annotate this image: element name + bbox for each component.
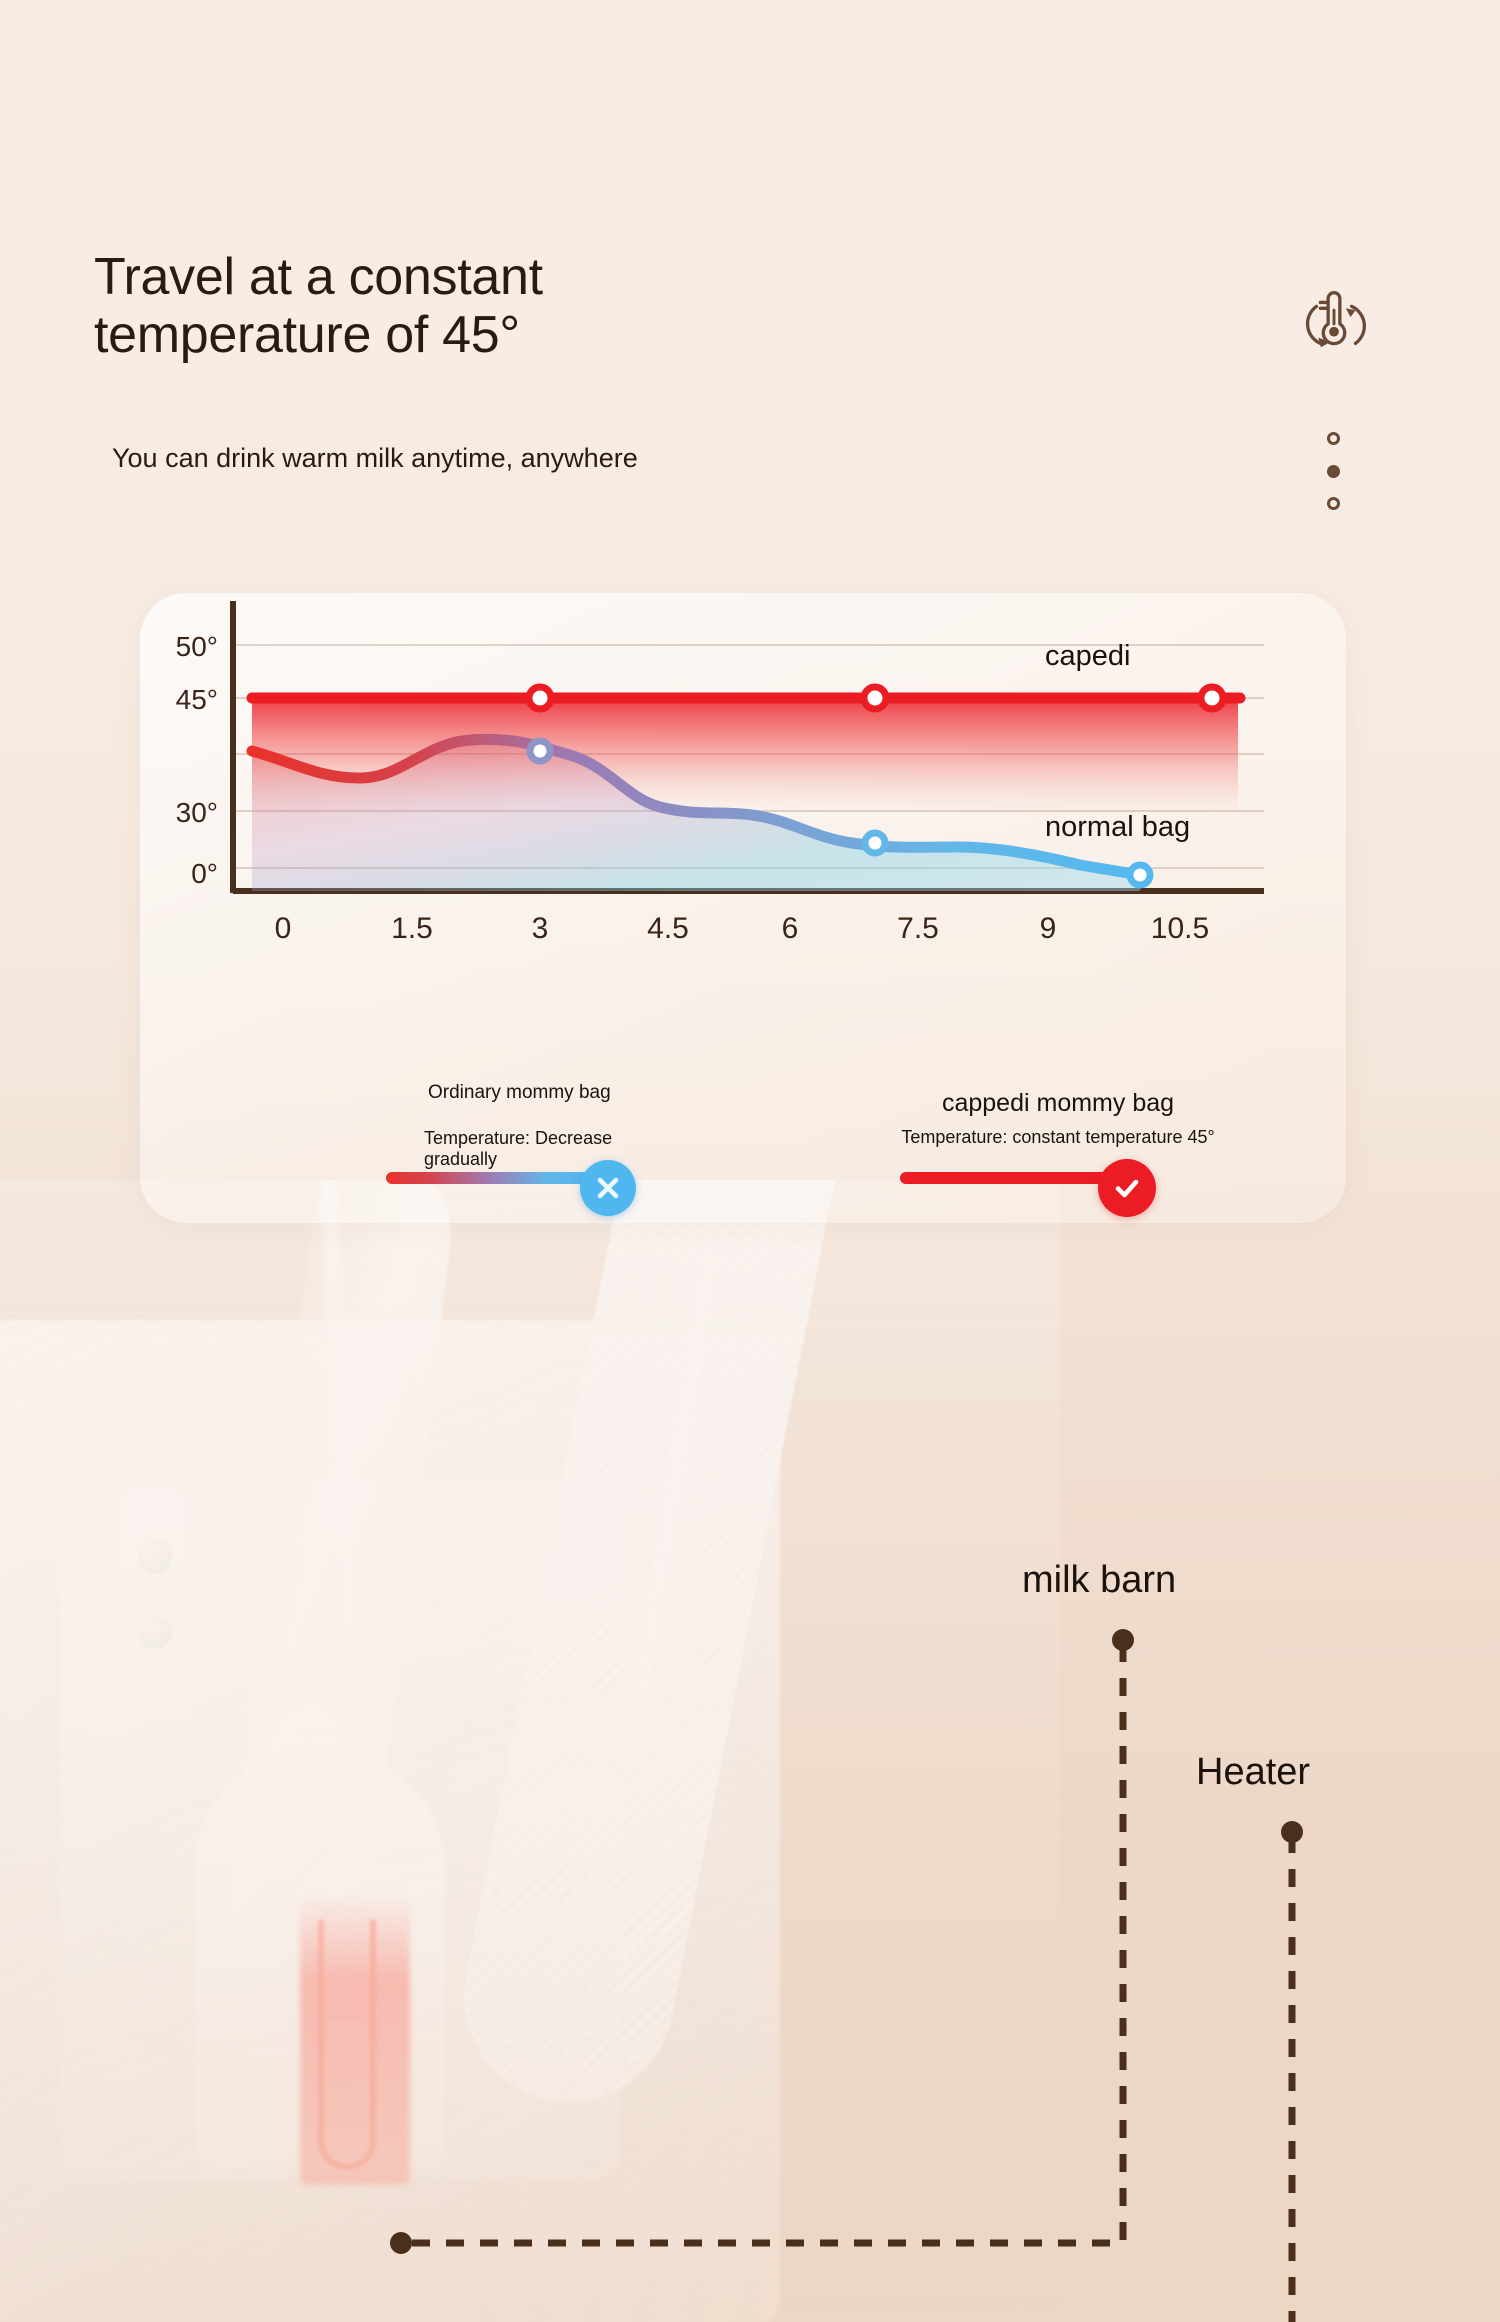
x-tick-label: 1.5	[391, 912, 433, 945]
x-tick-label: 7.5	[897, 912, 939, 945]
callout-label-milk-barn: milk barn	[1022, 1559, 1176, 1602]
series-label-normal-bag: normal bag	[1045, 811, 1190, 843]
product-photo-backpack	[0, 1180, 1060, 2322]
x-tick-label: 0	[275, 912, 292, 945]
x-tick-label: 10.5	[1151, 912, 1209, 945]
series-label-capedi: capedi	[1045, 640, 1130, 672]
more-options-vertical-icon[interactable]	[1322, 432, 1344, 510]
x-tick-label: 3	[532, 912, 549, 945]
y-tick-label: 50°	[176, 631, 218, 662]
temperature-line-chart: 50° 45° 30° 0° 0 1.5 3 4.5 6 7.5 9 10.5 …	[140, 593, 1346, 1223]
x-tick-label: 9	[1040, 912, 1057, 945]
page-title: Travel at a constant temperature of 45°	[94, 248, 543, 364]
temperature-chart-card: 50° 45° 30° 0° 0 1.5 3 4.5 6 7.5 9 10.5 …	[140, 593, 1346, 1223]
y-tick-label: 0°	[191, 858, 218, 889]
page-subtitle: You can drink warm milk anytime, anywher…	[112, 443, 638, 474]
callout-label-heater: Heater	[1196, 1751, 1310, 1794]
y-tick-label: 45°	[176, 684, 218, 715]
thermometer-constant-temperature-icon	[1295, 280, 1373, 360]
x-tick-label: 6	[782, 912, 799, 945]
x-tick-label: 4.5	[647, 912, 689, 945]
y-tick-label: 30°	[176, 797, 218, 828]
